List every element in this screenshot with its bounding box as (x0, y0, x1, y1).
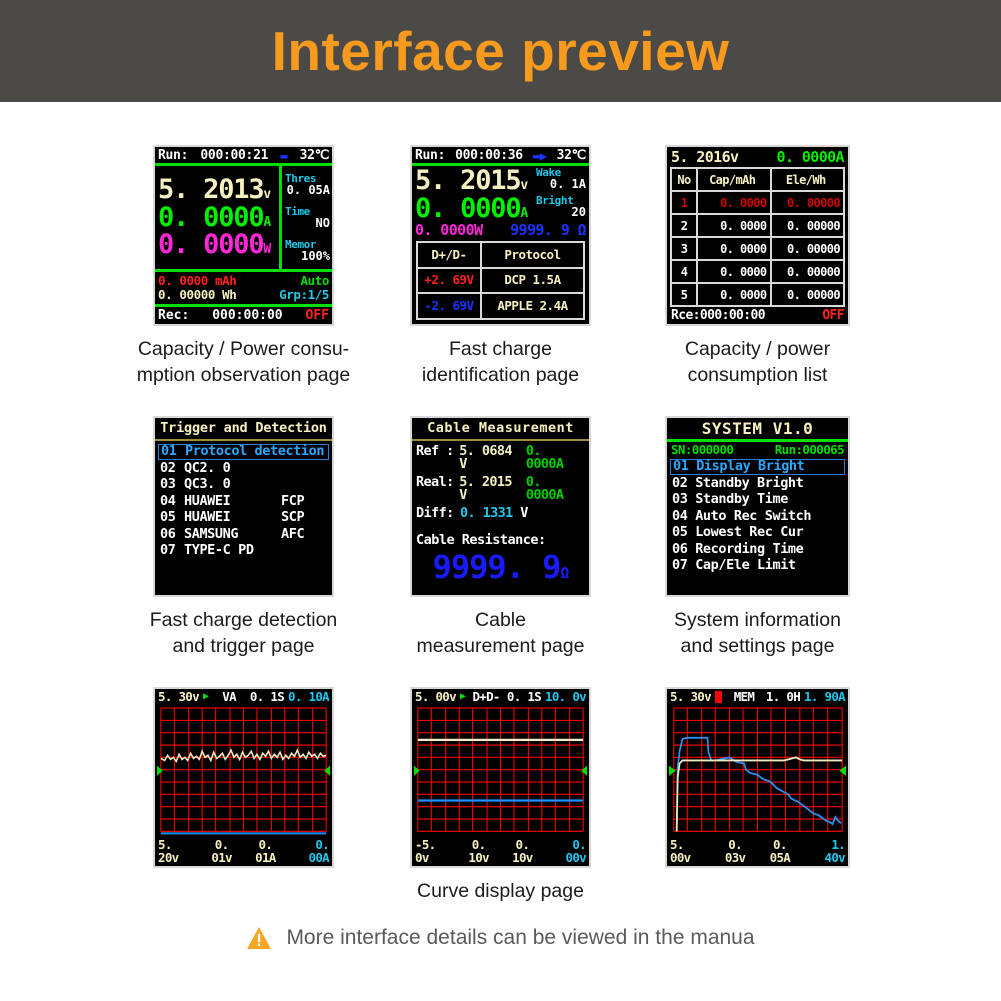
system-page-title: SYSTEM V1.0 (667, 418, 848, 439)
diff-unit: V (520, 507, 528, 521)
row-cap: 0. 0000 (698, 215, 772, 236)
trigger-page-title: Trigger and Detection (155, 418, 332, 441)
settings-item-lowest-rec-cur[interactable]: 05 Lowest Rec Cur (670, 525, 845, 542)
settings-item-display-bright[interactable]: 01 Display Bright (670, 459, 845, 476)
consumption-table: No Cap/mAh Ele/Wh 1 0. 0000 0. 00000 2 0… (670, 167, 845, 307)
curve-timebase-3: 1. 0H (766, 691, 800, 704)
side-panel: Thres 0. 05A Time NO Memor 100% (279, 166, 332, 269)
curve-v-div-3: 0. 03v (715, 839, 756, 864)
curve-scale-max: 5. 30v (158, 691, 199, 704)
table-header-row: D+/D- Protocol (418, 243, 583, 269)
bright-label: Bright (536, 195, 573, 206)
play-icon: ▶ (460, 692, 465, 702)
curve-svg-va (157, 706, 330, 838)
curve-plot-dpdm (414, 706, 587, 838)
item-label: SAMSUNG (184, 528, 281, 542)
curve-scale-min-2: -5. 0v (415, 839, 455, 864)
item-label: Standby Time (695, 491, 788, 507)
item-label: Cap/Ele Limit (695, 557, 795, 573)
curve-range-2: 10. 0v (545, 691, 586, 704)
time-value: NO (285, 217, 330, 229)
preview-grid: Run: 000:00:21 ▬ 32℃ 5. 2013v 0. 0000A 0… (0, 102, 1001, 950)
trigger-list: 01 Protocol detection 02 QC2. 0 03 QC3. … (155, 441, 332, 560)
item-number: 04 (672, 508, 687, 524)
power-value: 0. 0000 (158, 229, 263, 260)
rec-label: Rec: (158, 309, 189, 322)
run-time-2: 000:00:36 (455, 149, 523, 162)
real-current: 0. 0000A (526, 476, 585, 503)
caption-fast-charge: Fast chargeidentification page (386, 336, 616, 388)
table-row: +2. 69V DCP 1.5A (418, 269, 583, 295)
footer-note-text: More interface details can be viewed in … (286, 926, 754, 950)
settings-item-cap-ele-limit[interactable]: 07 Cap/Ele Limit (670, 558, 845, 575)
curve-bottom-bar-3: 5. 00v 0. 03v 0. 05A 1. 40v (667, 837, 848, 866)
current-value-2: 0. 0000 (415, 193, 520, 224)
capacity-value: 0. 0000 mAh (158, 275, 236, 288)
list-item-qc20[interactable]: 02 QC2. 0 (158, 460, 329, 477)
curve-scale-min-3: 5. 00v (670, 839, 711, 864)
current-reading-2: 0. 0000A (415, 195, 536, 223)
preview-cell-trigger: Trigger and Detection 01 Protocol detect… (151, 416, 336, 659)
ref-voltage: 5. 0684 V (459, 445, 526, 472)
item-number: 01 (161, 445, 185, 459)
ref-current: 0. 0000A (526, 445, 585, 472)
energy-row: 0. 00000 Wh Grp:1/5 (158, 289, 329, 302)
voltage-reading: 5. 2013v (158, 176, 279, 204)
main-readings-2: 5. 2015v Wake 0. 1A 0. 0000A Bright 20 (412, 166, 589, 238)
status-bar: Run: 000:00:21 ▬ 32℃ (155, 147, 332, 163)
table-row[interactable]: 2 0. 0000 0. 00000 (672, 215, 843, 238)
current-reading-3: 0. 0000A (777, 150, 844, 165)
cable-resistance-value: 9999. 9Ω (416, 551, 585, 583)
protocol-value-1: DCP 1.5A (482, 269, 583, 293)
item-number: 05 (160, 511, 184, 525)
table-row[interactable]: 1 0. 0000 0. 00000 (672, 192, 843, 215)
row-cap: 0. 0000 (698, 284, 772, 305)
preview-cell-cable: Cable Measurement Ref : 5. 0684 V 0. 000… (408, 416, 593, 659)
table-row[interactable]: 4 0. 0000 0. 00000 (672, 261, 843, 284)
footer-note: More interface details can be viewed in … (0, 926, 1001, 950)
temperature-value-2: 32℃ (557, 149, 586, 162)
item-number: 02 (160, 462, 184, 476)
screen-trigger-and-detection[interactable]: Trigger and Detection 01 Protocol detect… (153, 416, 334, 597)
row-ele: 0. 00000 (772, 215, 844, 236)
list-item-protocol-detection[interactable]: 01 Protocol detection (158, 444, 329, 461)
preview-cell-consumption-list: 5. 2016v 0. 0000A No Cap/mAh Ele/Wh 1 0.… (665, 145, 850, 388)
screen-capacity-power-list[interactable]: 5. 2016v 0. 0000A No Cap/mAh Ele/Wh 1 0.… (665, 145, 850, 326)
row-no: 1 (672, 192, 698, 213)
screen-cable-measurement[interactable]: Cable Measurement Ref : 5. 0684 V 0. 000… (410, 416, 591, 597)
curve-a-div-3: 0. 05A (760, 839, 801, 864)
interface-preview-page: Interface preview Run: 000:00:21 ▬ 32℃ (0, 0, 1001, 1001)
row-cap: 0. 0000 (698, 261, 772, 282)
wake-setting[interactable]: Wake 0. 1A (536, 167, 586, 190)
current-unit: A (263, 215, 270, 230)
real-row: Real: 5. 2015 V 0. 0000A (416, 476, 585, 503)
main-readings: 5. 2013v 0. 0000A 0. 0000W Thres 0. 05A … (155, 166, 332, 269)
screen-curve-mem[interactable]: 5. 30v MEM 1. 0H 1. 90A (665, 687, 850, 868)
protocol-table: D+/D- Protocol +2. 69V DCP 1.5A -2. 69V … (416, 241, 585, 320)
screen-fast-charge-identification[interactable]: Run: 000:00:36 ▬▶ 32℃ 5. 2015v Wake 0. 1… (410, 145, 591, 326)
item-number: 03 (160, 478, 184, 492)
diff-value: 0. 1331 (460, 507, 513, 521)
item-label: Standby Bright (695, 475, 803, 491)
rec-time: 000:00:00 (212, 309, 282, 322)
row-no: 4 (672, 261, 698, 282)
current-row: 0. 0000A Bright 20 (415, 195, 586, 223)
current-value: 0. 0000 (158, 202, 263, 233)
warning-icon (246, 926, 272, 950)
system-identity-row: SN:000000 Run:000065 (667, 442, 848, 459)
record-icon (715, 691, 722, 703)
power-unit: W (263, 242, 270, 257)
curve-bottom-bar: 5. 20v 0. 01v 0. 01A 0. 00A (155, 837, 332, 866)
curve-top-bar: 5. 30v ▶ VA 0. 1S 0. 10A (155, 689, 332, 706)
group-value: Grp:1/5 (279, 289, 329, 302)
settings-item-recording-time[interactable]: 06 Recording Time (670, 541, 845, 558)
settings-item-standby-time[interactable]: 03 Standby Time (670, 492, 845, 509)
mode-value: Auto (300, 275, 329, 288)
power-resistance-row: 0. 0000W 9999. 9 Ω (415, 222, 586, 238)
preview-cell-curve-mem: 5. 30v MEM 1. 0H 1. 90A (665, 687, 850, 904)
preview-cell-capacity-power: Run: 000:00:21 ▬ 32℃ 5. 2013v 0. 0000A 0… (151, 145, 336, 388)
side-panel-item-memor[interactable]: Memor 100% (285, 239, 330, 262)
usb-direction-icon-2: ▬▶ (533, 150, 547, 162)
real-voltage: 5. 2015 V (459, 476, 526, 503)
item-label: Recording Time (695, 541, 803, 557)
row-ele: 0. 00000 (772, 238, 844, 259)
row-no: 3 (672, 238, 698, 259)
ref-label: Ref : (416, 445, 459, 472)
voltage-unit-2: v (520, 178, 527, 193)
status-bar-2: Run: 000:00:36 ▬▶ 32℃ (412, 147, 589, 163)
preview-cell-fast-charge: Run: 000:00:36 ▬▶ 32℃ 5. 2015v Wake 0. 1… (408, 145, 593, 388)
curve-bottom-bar-2: -5. 0v 0. 10v 0. 10v 0. 00v (412, 837, 589, 866)
col-header-cap: Cap/mAh (698, 169, 772, 190)
item-label: QC3. 0 (184, 478, 327, 492)
dp-plus-value: +2. 69V (418, 269, 482, 293)
list-item-huawei-fcp[interactable]: 04 HUAWEI FCP (158, 493, 329, 510)
item-label: TYPE-C PD (184, 544, 327, 558)
curve-timebase: 0. 1S (250, 691, 284, 704)
protocol-value-2: APPLE 2.4A (482, 294, 583, 318)
energy-value: 0. 00000 Wh (158, 289, 236, 302)
curve-scale-min: 5. 20v (158, 839, 198, 864)
list-item-typec-pd[interactable]: 07 TYPE-C PD (158, 543, 329, 560)
curve-plot-va (157, 706, 330, 838)
row-no: 5 (672, 284, 698, 305)
item-number: 01 (673, 458, 688, 474)
record-bar-3: Rce:000:00:00 OFF (667, 307, 848, 324)
row-ele: 0. 00000 (772, 192, 844, 213)
resistance-unit: Ω (560, 564, 568, 582)
curve-mode-3: MEM (726, 691, 762, 704)
caption-cable: Cablemeasurement page (383, 607, 618, 659)
side-panel-item-time[interactable]: Time NO (285, 206, 330, 229)
item-number: 06 (672, 541, 687, 557)
system-settings-list: 01 Display Bright 02 Standby Bright 03 S… (667, 459, 848, 575)
col-header-ele: Ele/Wh (772, 169, 844, 190)
curve-scale-max-2: 5. 00v (415, 691, 456, 704)
wake-value: 0. 1A (550, 178, 586, 190)
primary-values: 5. 2013v 0. 0000A 0. 0000W (155, 166, 279, 269)
item-label: Auto Rec Switch (695, 508, 811, 524)
caption-system: System informationand settings page (640, 607, 875, 659)
rce-label: Rce:000:00:00 (671, 309, 765, 322)
table-row: -2. 69V APPLE 2.4A (418, 294, 583, 318)
list-item-qc30[interactable]: 03 QC3. 0 (158, 477, 329, 494)
run-time: 000:00:21 (200, 149, 268, 162)
preview-cell-curve-va: 5. 30v ▶ VA 0. 1S 0. 10A (151, 687, 336, 904)
thres-value: 0. 05A (285, 184, 330, 196)
preview-row-1: Run: 000:00:21 ▬ 32℃ 5. 2013v 0. 0000A 0… (0, 145, 1001, 388)
item-number: 07 (672, 557, 687, 573)
list-item-huawei-scp[interactable]: 05 HUAWEI SCP (158, 510, 329, 527)
table-row[interactable]: 3 0. 0000 0. 00000 (672, 238, 843, 261)
screen-curve-dpdm[interactable]: 5. 00v ▶ D+D- 0. 1S 10. 0v (410, 687, 591, 868)
curve-scale-max-3: 5. 30v (670, 691, 711, 704)
item-label: Lowest Rec Cur (695, 524, 803, 540)
usb-direction-icon: ▬ (280, 150, 287, 162)
item-number: 06 (160, 528, 184, 542)
preview-row-2: Trigger and Detection 01 Protocol detect… (0, 416, 1001, 659)
row-cap: 0. 0000 (698, 192, 772, 213)
item-number: 02 (672, 475, 687, 491)
list-header: 5. 2016v 0. 0000A (667, 147, 848, 167)
rec-state-badge: OFF (306, 309, 329, 322)
item-label: HUAWEI (184, 495, 281, 509)
side-panel-item-thres[interactable]: Thres 0. 05A (285, 173, 330, 196)
item-label: QC2. 0 (184, 462, 327, 476)
caption-consumption-list: Capacity / powerconsumption list (643, 336, 873, 388)
col-header-dpdm: D+/D- (418, 243, 482, 267)
item-extra: SCP (281, 511, 327, 525)
curve-cursor: 0. 00A (289, 839, 329, 864)
accumulated-values: 0. 0000 mAh Auto 0. 00000 Wh Grp:1/5 (155, 272, 332, 304)
diff-row: Diff: 0. 1331 V (416, 507, 585, 521)
caption-trigger: Fast charge detectionand trigger page (126, 607, 361, 659)
run-label-2: Run: (415, 149, 445, 162)
item-label: Display Bright (696, 458, 804, 474)
record-bar: Rec: 000:00:00 OFF (155, 307, 332, 324)
curve-a-div: 0. 01A (246, 839, 286, 864)
row-ele: 0. 00000 (772, 284, 844, 305)
curve-top-bar-2: 5. 00v ▶ D+D- 0. 1S 10. 0v (412, 689, 589, 706)
diff-label: Diff: (416, 507, 460, 521)
resistance-number: 9999. 9 (433, 548, 561, 586)
cable-readings: Ref : 5. 0684 V 0. 0000A Real: 5. 2015 V… (412, 441, 589, 583)
curve-svg-mem (669, 706, 846, 838)
curve-svg-dpdm (414, 706, 587, 838)
serial-number: SN:000000 (671, 444, 733, 457)
power-reading-2: 0. 0000W (415, 223, 482, 238)
item-number: 07 (160, 544, 184, 558)
col-header-protocol: Protocol (482, 243, 583, 267)
preview-cell-system: SYSTEM V1.0 SN:000000 Run:000065 01 Disp… (665, 416, 850, 659)
item-number: 03 (672, 491, 687, 507)
curve-plot-mem (669, 706, 846, 838)
curve-cursor-3: 1. 40v (804, 839, 845, 864)
table-row[interactable]: 5 0. 0000 0. 00000 (672, 284, 843, 305)
curve-v-div: 0. 01v (202, 839, 242, 864)
caption-capacity-power: Capacity / Power consu-mption observatio… (129, 336, 359, 388)
rce-state-badge: OFF (822, 309, 844, 322)
voltage-reading-3: 5. 2016v (671, 150, 738, 165)
run-counter: Run:000065 (775, 444, 844, 457)
curve-range: 0. 10A (288, 691, 329, 704)
cable-page-title: Cable Measurement (412, 418, 589, 441)
voltage-reading-2: 5. 2015v (415, 167, 536, 195)
dp-minus-value: -2. 69V (418, 294, 482, 318)
curve-a-div-2: 0. 10v (503, 839, 543, 864)
item-label: HUAWEI (184, 511, 281, 525)
col-header-no: No (672, 169, 698, 190)
bright-setting[interactable]: Bright 20 (536, 195, 586, 218)
current-unit-2: A (520, 206, 527, 221)
screen-system-information[interactable]: SYSTEM V1.0 SN:000000 Run:000065 01 Disp… (665, 416, 850, 597)
current-reading: 0. 0000A (158, 204, 279, 232)
curve-mode: VA (212, 691, 246, 704)
voltage-unit: v (263, 187, 270, 202)
item-label: Protocol detection (185, 445, 326, 459)
power-reading: 0. 0000W (158, 231, 279, 259)
preview-cell-curve-dpdm: 5. 00v ▶ D+D- 0. 1S 10. 0v (408, 687, 593, 904)
caption-curve-display: Curve display page (386, 878, 616, 904)
item-extra: AFC (281, 528, 327, 542)
curve-range-3: 1. 90A (804, 691, 845, 704)
row-cap: 0. 0000 (698, 238, 772, 259)
item-number: 05 (672, 524, 687, 540)
settings-item-standby-bright[interactable]: 02 Standby Bright (670, 475, 845, 492)
resistance-reading: 9999. 9 Ω (510, 223, 586, 238)
voltage-row: 5. 2015v Wake 0. 1A (415, 167, 586, 195)
curve-top-bar-3: 5. 30v MEM 1. 0H 1. 90A (667, 689, 848, 706)
screen-capacity-power-observation[interactable]: Run: 000:00:21 ▬ 32℃ 5. 2013v 0. 0000A 0… (153, 145, 334, 326)
play-icon: ▶ (203, 692, 208, 702)
voltage-value: 5. 2013 (158, 174, 263, 205)
ref-row: Ref : 5. 0684 V 0. 0000A (416, 445, 585, 472)
capacity-row: 0. 0000 mAh Auto (158, 275, 329, 288)
curve-timebase-2: 0. 1S (507, 691, 541, 704)
table-header-row: No Cap/mAh Ele/Wh (672, 169, 843, 192)
curve-mode-2: D+D- (469, 691, 503, 704)
page-header: Interface preview (0, 0, 1001, 102)
page-title: Interface preview (272, 19, 730, 83)
preview-row-3: 5. 30v ▶ VA 0. 1S 0. 10A (0, 687, 1001, 904)
curve-cursor-2: 0. 00v (546, 839, 586, 864)
voltage-value-2: 5. 2015 (415, 165, 520, 196)
real-label: Real: (416, 476, 459, 503)
bright-value: 20 (572, 206, 586, 218)
item-extra: FCP (281, 495, 327, 509)
run-label: Run: (158, 149, 188, 162)
temperature-value: 32℃ (300, 149, 329, 162)
item-number: 04 (160, 495, 184, 509)
settings-item-auto-rec-switch[interactable]: 04 Auto Rec Switch (670, 508, 845, 525)
row-no: 2 (672, 215, 698, 236)
cable-resistance-label: Cable Resistance: (416, 534, 585, 548)
memor-value: 100% (285, 250, 330, 262)
list-item-samsung-afc[interactable]: 06 SAMSUNG AFC (158, 526, 329, 543)
row-ele: 0. 00000 (772, 261, 844, 282)
curve-v-div-2: 0. 10v (459, 839, 499, 864)
screen-curve-va[interactable]: 5. 30v ▶ VA 0. 1S 0. 10A (153, 687, 334, 868)
